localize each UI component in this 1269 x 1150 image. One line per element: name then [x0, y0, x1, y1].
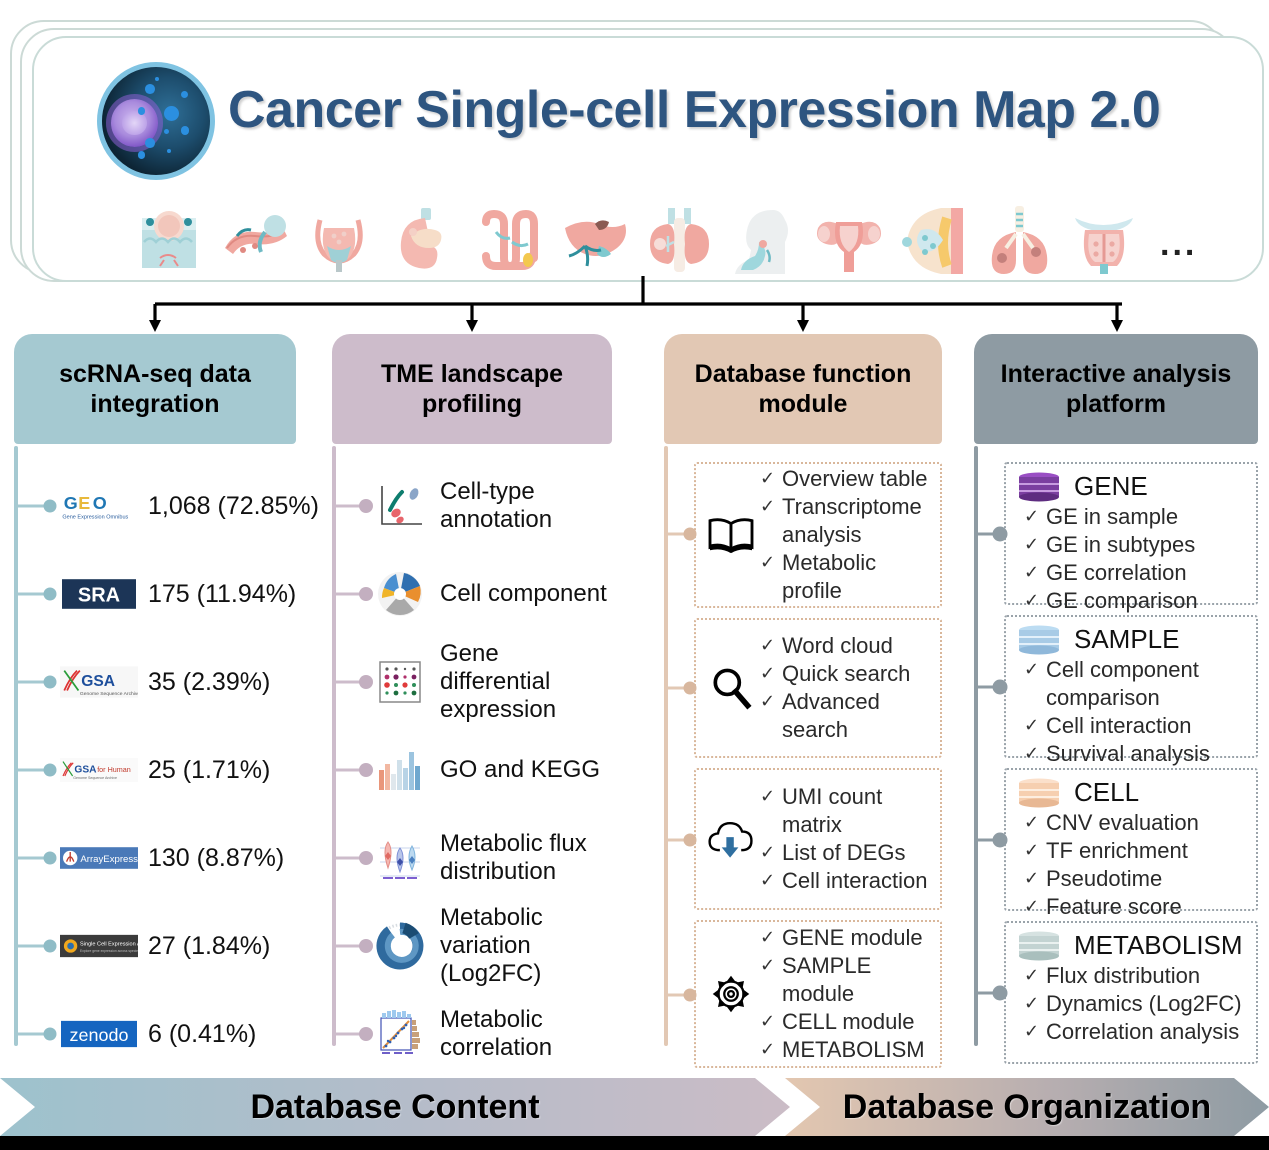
- header-panel: Cancer Single-cell Expression Map 2.0: [10, 6, 1260, 278]
- column-title-scrna: scRNA-seq data integration: [14, 334, 296, 444]
- check-item: ✓Pseudotime: [1024, 865, 1248, 893]
- check-icon: ✓: [760, 465, 782, 491]
- database-cylinder-icon: [1016, 931, 1062, 961]
- gsa-for-human-logo: GSA for Human Genome Sequence Archive: [60, 753, 138, 787]
- list-item[interactable]: Metabolic flux distribution: [332, 814, 612, 902]
- open-book-icon: [702, 506, 760, 564]
- column-interactive-analysis-platform: Interactive analysis platform: [974, 334, 1258, 1054]
- source-value: 35 (2.39%): [148, 668, 270, 697]
- function-group-list: ✓Overview table ✓Transcriptome analysis …: [664, 462, 942, 1078]
- source-list: G E O Gene Expression Omnibus 1,068 (72.…: [14, 462, 296, 1078]
- group-row[interactable]: ✓Overview table ✓Transcriptome analysis …: [664, 462, 942, 608]
- head-neck-icon: [725, 202, 803, 278]
- svg-text:Genome Sequence Archive: Genome Sequence Archive: [73, 776, 117, 780]
- header-content: Cancer Single-cell Expression Map 2.0: [32, 36, 1260, 278]
- source-value: 6 (0.41%): [148, 1020, 256, 1049]
- module-row[interactable]: METABOLISM ✓Flux distribution ✓Dynamics …: [974, 921, 1258, 1064]
- svg-text:GSA: GSA: [81, 673, 115, 690]
- check-icon: ✓: [760, 867, 782, 893]
- check-icon: ✓: [760, 549, 782, 575]
- check-icon: ✓: [1024, 559, 1046, 585]
- module-row[interactable]: CELL ✓CNV evaluation ✓TF enrichment ✓Pse…: [974, 768, 1258, 911]
- check-icon: ✓: [1024, 809, 1046, 835]
- check-icon: ✓: [760, 632, 782, 658]
- list-item[interactable]: Cell component: [332, 550, 612, 638]
- liver-icon: [555, 202, 633, 278]
- check-icon: ✓: [760, 839, 782, 865]
- lung-icon: [980, 202, 1058, 278]
- source-value: 25 (1.71%): [148, 756, 270, 785]
- sra-logo: SRA: [60, 577, 138, 611]
- item-label: Gene differential expression: [440, 640, 612, 725]
- list-item[interactable]: GO and KEGG: [332, 726, 612, 814]
- svg-text:SRA: SRA: [78, 584, 120, 606]
- check-icon: ✓: [1024, 531, 1046, 557]
- check-item: ✓Metabolic profile: [760, 549, 932, 605]
- check-item: ✓GE correlation: [1024, 559, 1248, 587]
- figure-root: Cancer Single-cell Expression Map 2.0: [0, 0, 1269, 1150]
- check-icon: ✓: [1024, 503, 1046, 529]
- check-item: ✓Flux distribution: [1024, 962, 1248, 990]
- group-row[interactable]: ✓Word cloud ✓Quick search ✓Advanced sear…: [664, 618, 942, 758]
- footer-left-label: Database Content: [250, 1088, 539, 1127]
- check-icon: ✓: [760, 660, 782, 686]
- svg-text:Gene Expression Omnibus: Gene Expression Omnibus: [62, 514, 128, 520]
- item-label: Metabolic variation (Log2FC): [440, 904, 612, 989]
- check-icon: ✓: [1024, 712, 1046, 738]
- svg-text:Explore gene expression across: Explore gene expression across species: [80, 949, 138, 953]
- group-row[interactable]: ✓GENE module ✓SAMPLE module ✓CELL module…: [664, 920, 942, 1068]
- check-item: ✓GE in subtypes: [1024, 531, 1248, 559]
- footer-right-label: Database Organization: [843, 1088, 1211, 1127]
- check-item: ✓CELL module: [760, 1008, 932, 1036]
- footer-banner: Database Content Database Organization: [0, 1078, 1269, 1136]
- svg-text:zenodo: zenodo: [70, 1025, 129, 1045]
- svg-text:ArrayExpress: ArrayExpress: [80, 854, 138, 865]
- check-item: ✓Advanced search: [760, 688, 932, 744]
- column-title-platform: Interactive analysis platform: [974, 334, 1258, 444]
- list-item[interactable]: Cell-type annotation: [332, 462, 612, 550]
- check-item: ✓GE comparison: [1024, 587, 1248, 615]
- module-list: GENE ✓GE in sample ✓GE in subtypes ✓GE c…: [974, 462, 1258, 1074]
- column-database-function-module: Database function module ✓Overview table: [664, 334, 942, 1054]
- dotplot-heatmap-icon: [374, 656, 426, 708]
- svg-text:GSA: GSA: [74, 764, 97, 775]
- svg-text:E: E: [78, 493, 90, 513]
- bar-enrichment-icon: [374, 744, 426, 796]
- list-item[interactable]: G E O Gene Expression Omnibus 1,068 (72.…: [14, 462, 296, 550]
- check-icon: ✓: [1024, 740, 1046, 766]
- check-item: ✓List of DEGs: [760, 839, 932, 867]
- column-tme-landscape-profiling: TME landscape profiling Cell-type annota…: [332, 334, 612, 1054]
- check-item: ✓Overview table: [760, 465, 932, 493]
- check-item: ✓Quick search: [760, 660, 932, 688]
- source-value: 175 (11.94%): [148, 580, 296, 609]
- list-item[interactable]: SRA 175 (11.94%): [14, 550, 296, 638]
- single-cell-expression-atlas-logo: Single Cell Expression Atlas Explore gen…: [60, 929, 138, 963]
- list-item[interactable]: Metabolic variation (Log2FC): [332, 902, 612, 990]
- organ-ellipsis: ...: [1160, 225, 1197, 264]
- svg-text:Single Cell Expression Atlas: Single Cell Expression Atlas: [80, 941, 138, 947]
- umap-scatter-icon: [374, 480, 426, 532]
- item-label: Metabolic flux distribution: [440, 830, 612, 887]
- item-label: GO and KEGG: [440, 756, 600, 784]
- check-icon: ✓: [1024, 1018, 1046, 1044]
- check-item: ✓Feature score: [1024, 893, 1248, 921]
- check-icon: ✓: [1024, 990, 1046, 1016]
- connector-tree: [0, 276, 1269, 336]
- check-icon: ✓: [760, 688, 782, 714]
- module-row[interactable]: GENE ✓GE in sample ✓GE in subtypes ✓GE c…: [974, 462, 1258, 605]
- check-item: ✓TF enrichment: [1024, 837, 1248, 865]
- bottom-black-bar: [0, 1136, 1269, 1150]
- stomach-icon: [385, 202, 463, 278]
- check-item: ✓CNV evaluation: [1024, 809, 1248, 837]
- check-item: ✓GENE module: [760, 924, 932, 952]
- colon-icon: [470, 202, 548, 278]
- correlation-scatter-icon: [374, 1008, 426, 1060]
- check-item: ✓Cell interaction: [760, 867, 932, 895]
- list-item[interactable]: GSA Genome Sequence Archive 35 (2.39%): [14, 638, 296, 726]
- circular-donut-icon: [374, 920, 426, 972]
- database-organization-arrow: Database Organization: [785, 1078, 1269, 1136]
- database-cylinder-icon: [1016, 472, 1062, 502]
- source-value: 130 (8.87%): [148, 844, 284, 873]
- list-item[interactable]: ArrayExpress 130 (8.87%): [14, 814, 296, 902]
- check-icon: ✓: [1024, 587, 1046, 613]
- item-label: Cell component: [440, 580, 607, 608]
- module-name: GENE: [1074, 471, 1148, 502]
- check-icon: ✓: [760, 783, 782, 809]
- check-item: ✓Word cloud: [760, 632, 932, 660]
- zenodo-logo: zenodo: [60, 1017, 138, 1051]
- check-icon: ✓: [760, 952, 782, 978]
- arrayexpress-logo: ArrayExpress: [60, 841, 138, 875]
- breast-icon: [895, 202, 973, 278]
- gsa-logo: GSA Genome Sequence Archive: [60, 665, 138, 699]
- check-item: ✓Transcriptome analysis: [760, 493, 932, 549]
- list-item[interactable]: zenodo 6 (0.41%): [14, 990, 296, 1078]
- list-item[interactable]: GSA for Human Genome Sequence Archive 25…: [14, 726, 296, 814]
- geo-logo: G E O Gene Expression Omnibus: [60, 489, 138, 523]
- check-icon: ✓: [760, 924, 782, 950]
- module-name: CELL: [1074, 777, 1139, 808]
- page-title: Cancer Single-cell Expression Map 2.0: [228, 80, 1228, 140]
- check-icon: ✓: [1024, 865, 1046, 891]
- check-icon: ✓: [760, 493, 782, 519]
- pancreas-icon: [215, 202, 293, 278]
- module-row[interactable]: SAMPLE ✓Cell component comparison ✓Cell …: [974, 615, 1258, 758]
- check-item: ✓SAMPLE module: [760, 952, 932, 1008]
- list-item[interactable]: Gene differential expression: [332, 638, 612, 726]
- source-value: 27 (1.84%): [148, 932, 270, 961]
- svg-text:G: G: [64, 493, 78, 513]
- magnifier-icon: [702, 659, 760, 717]
- uterus-icon: [810, 202, 888, 278]
- kidney-icon: [640, 202, 718, 278]
- database-content-arrow: Database Content: [0, 1078, 790, 1136]
- column-scrna-seq-data-integration: scRNA-seq data integration G E O Gene Ex…: [14, 334, 296, 1054]
- group-row[interactable]: ✓UMI count matrix ✓List of DEGs ✓Cell in…: [664, 768, 942, 910]
- check-icon: ✓: [760, 1036, 782, 1062]
- check-item: ✓UMI count matrix: [760, 783, 932, 839]
- module-name: SAMPLE: [1074, 624, 1180, 655]
- cloud-download-icon: [702, 810, 760, 868]
- svg-text:Genome Sequence Archive: Genome Sequence Archive: [80, 691, 138, 697]
- check-item: ✓METABOLISM: [760, 1036, 932, 1064]
- check-item: ✓Survival analysis: [1024, 740, 1248, 768]
- check-item: ✓Correlation analysis: [1024, 1018, 1248, 1046]
- svg-text:O: O: [93, 493, 107, 513]
- check-item: ✓Cell component comparison: [1024, 656, 1248, 712]
- tme-item-list: Cell-type annotation Cell component: [332, 462, 612, 1078]
- cell-component-pie-icon: [374, 568, 426, 620]
- check-item: ✓Cell interaction: [1024, 712, 1248, 740]
- prostate-icon: [1065, 202, 1143, 278]
- column-title-dbfunc: Database function module: [664, 334, 942, 444]
- cancer-cell-icon: [97, 62, 215, 180]
- list-item[interactable]: Metabolic correlation: [332, 990, 612, 1078]
- check-icon: ✓: [1024, 837, 1046, 863]
- check-item: ✓Dynamics (Log2FC): [1024, 990, 1248, 1018]
- column-title-tme: TME landscape profiling: [332, 334, 612, 444]
- bladder-icon: [300, 202, 378, 278]
- database-cylinder-icon: [1016, 778, 1062, 808]
- check-icon: ✓: [1024, 893, 1046, 919]
- svg-text:for Human: for Human: [97, 765, 131, 774]
- item-label: Cell-type annotation: [440, 478, 612, 535]
- check-item: ✓GE in sample: [1024, 503, 1248, 531]
- database-cylinder-icon: [1016, 625, 1062, 655]
- organ-icon-row: ...: [130, 198, 1230, 278]
- module-name: METABOLISM: [1074, 930, 1243, 961]
- check-icon: ✓: [1024, 962, 1046, 988]
- gear-icon: [702, 965, 760, 1023]
- list-item[interactable]: Single Cell Expression Atlas Explore gen…: [14, 902, 296, 990]
- violin-plot-icon: [374, 832, 426, 884]
- check-icon: ✓: [1024, 656, 1046, 682]
- item-label: Metabolic correlation: [440, 1006, 612, 1063]
- source-value: 1,068 (72.85%): [148, 492, 319, 521]
- skin-icon: [130, 202, 208, 278]
- check-icon: ✓: [760, 1008, 782, 1034]
